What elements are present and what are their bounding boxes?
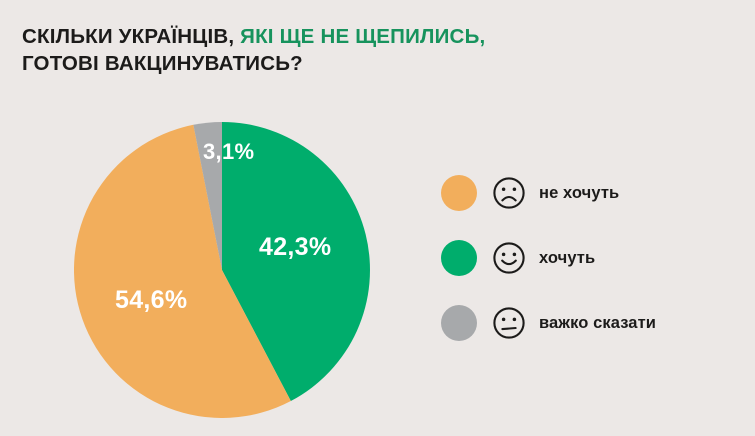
pie-label-vazhko-skazaty: 3,1%: [203, 139, 254, 165]
frowning-face-icon: [492, 176, 526, 210]
smiling-face-icon: [492, 241, 526, 275]
pie-chart: 3,1% 42,3% 54,6%: [74, 122, 370, 418]
legend-label-vazhko-skazaty: важко сказати: [539, 314, 656, 333]
legend-item-ne-hochut[interactable]: не хочуть: [441, 172, 731, 214]
legend-label-ne-hochut: не хочуть: [539, 184, 619, 203]
legend-item-vazhko-skazaty[interactable]: важко сказати: [441, 302, 731, 344]
neutral-face-icon: [492, 306, 526, 340]
title-line-2: ГОТОВІ ВАКЦИНУВАТИСЬ?: [22, 50, 722, 77]
pie-chart-svg: [74, 122, 370, 418]
chart-legend: не хочуть хочуть важко сказати: [441, 172, 731, 344]
title-text-accent: ЯКІ ЩЕ НЕ ЩЕПИЛИСЬ,: [240, 25, 485, 48]
title-text-primary: СКІЛЬКИ УКРАЇНЦІВ,: [22, 25, 240, 48]
legend-color-swatch-green: [441, 240, 477, 276]
legend-label-hochut: хочуть: [539, 249, 595, 268]
infographic-canvas: СКІЛЬКИ УКРАЇНЦІВ, ЯКІ ЩЕ НЕ ЩЕПИЛИСЬ, Г…: [0, 0, 755, 436]
legend-color-swatch-gray: [441, 305, 477, 341]
pie-label-hochut: 42,3%: [259, 233, 331, 262]
pie-label-ne-hochut: 54,6%: [115, 286, 187, 315]
legend-item-hochut[interactable]: хочуть: [441, 237, 731, 279]
page-title: СКІЛЬКИ УКРАЇНЦІВ, ЯКІ ЩЕ НЕ ЩЕПИЛИСЬ, Г…: [22, 23, 722, 77]
title-line-1: СКІЛЬКИ УКРАЇНЦІВ, ЯКІ ЩЕ НЕ ЩЕПИЛИСЬ,: [22, 23, 722, 50]
legend-color-swatch-orange: [441, 175, 477, 211]
